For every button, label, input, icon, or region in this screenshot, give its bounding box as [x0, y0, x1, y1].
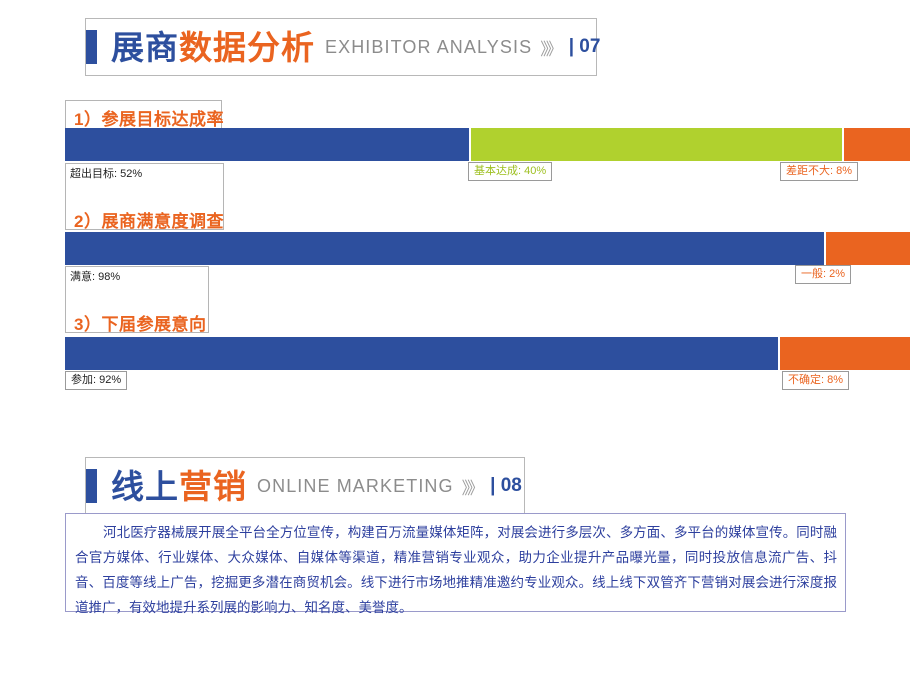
section-title-cn-blue: 展商	[111, 29, 179, 66]
bar-segment-exceeded-target	[65, 128, 469, 161]
bar-label-small-gap: 差距不大: 8%	[780, 162, 858, 181]
chevrons-icon: 》》	[462, 474, 482, 499]
section-title-cn-orange: 营销	[179, 468, 247, 505]
bar-segment-satisfied	[65, 232, 824, 265]
bar-segment-average	[826, 232, 910, 265]
section-title-cn: 展商数据分析	[111, 31, 315, 64]
section-number: | 08	[490, 475, 522, 497]
section-header-online-marketing: 线上营销 ONLINE MARKETING 》》 | 08	[85, 457, 525, 515]
bar-label-average: 一般: 2%	[795, 265, 851, 284]
section-number: | 07	[569, 36, 601, 58]
stacked-bar-chart-2	[65, 232, 846, 265]
bar-label-basically-achieved: 基本达成: 40%	[468, 162, 552, 181]
subsection-title-2: 2）展商满意度调查	[74, 207, 224, 232]
section-title-en: ONLINE MARKETING	[257, 476, 454, 497]
bar-segment-will-attend	[65, 337, 778, 370]
stacked-bar-chart-1	[65, 128, 846, 161]
chevrons-icon: 》》	[540, 35, 560, 60]
section-title-en: EXHIBITOR ANALYSIS	[325, 37, 532, 58]
section-title-cn: 线上营销	[111, 470, 247, 503]
marketing-description-text: 河北医疗器械展开展全平台全方位宣传，构建百万流量媒体矩阵，对展会进行多层次、多方…	[75, 521, 837, 621]
stacked-bar-chart-3	[65, 337, 846, 370]
bar-segment-basically-achieved	[471, 128, 842, 161]
blue-tick-icon	[86, 30, 97, 64]
bar-label-uncertain: 不确定: 8%	[782, 371, 849, 390]
bar-segment-small-gap	[844, 128, 910, 161]
bar-segment-uncertain	[780, 337, 910, 370]
subsection-title-3: 3）下届参展意向	[74, 310, 206, 335]
section-title-cn-blue: 线上	[111, 468, 179, 505]
marketing-description-box: 河北医疗器械展开展全平台全方位宣传，构建百万流量媒体矩阵，对展会进行多层次、多方…	[65, 513, 846, 612]
blue-tick-icon	[86, 469, 97, 503]
subsection-title-1: 1）参展目标达成率	[74, 105, 224, 130]
bar-label-will-attend: 参加: 92%	[65, 371, 127, 390]
bar-label-exceeded-target: 超出目标: 52%	[70, 165, 142, 181]
bar-label-satisfied: 满意: 98%	[70, 268, 120, 284]
section-header-exhibitor-analysis: 展商数据分析 EXHIBITOR ANALYSIS 》》 | 07	[85, 18, 597, 76]
section-title-cn-orange: 数据分析	[179, 29, 315, 66]
